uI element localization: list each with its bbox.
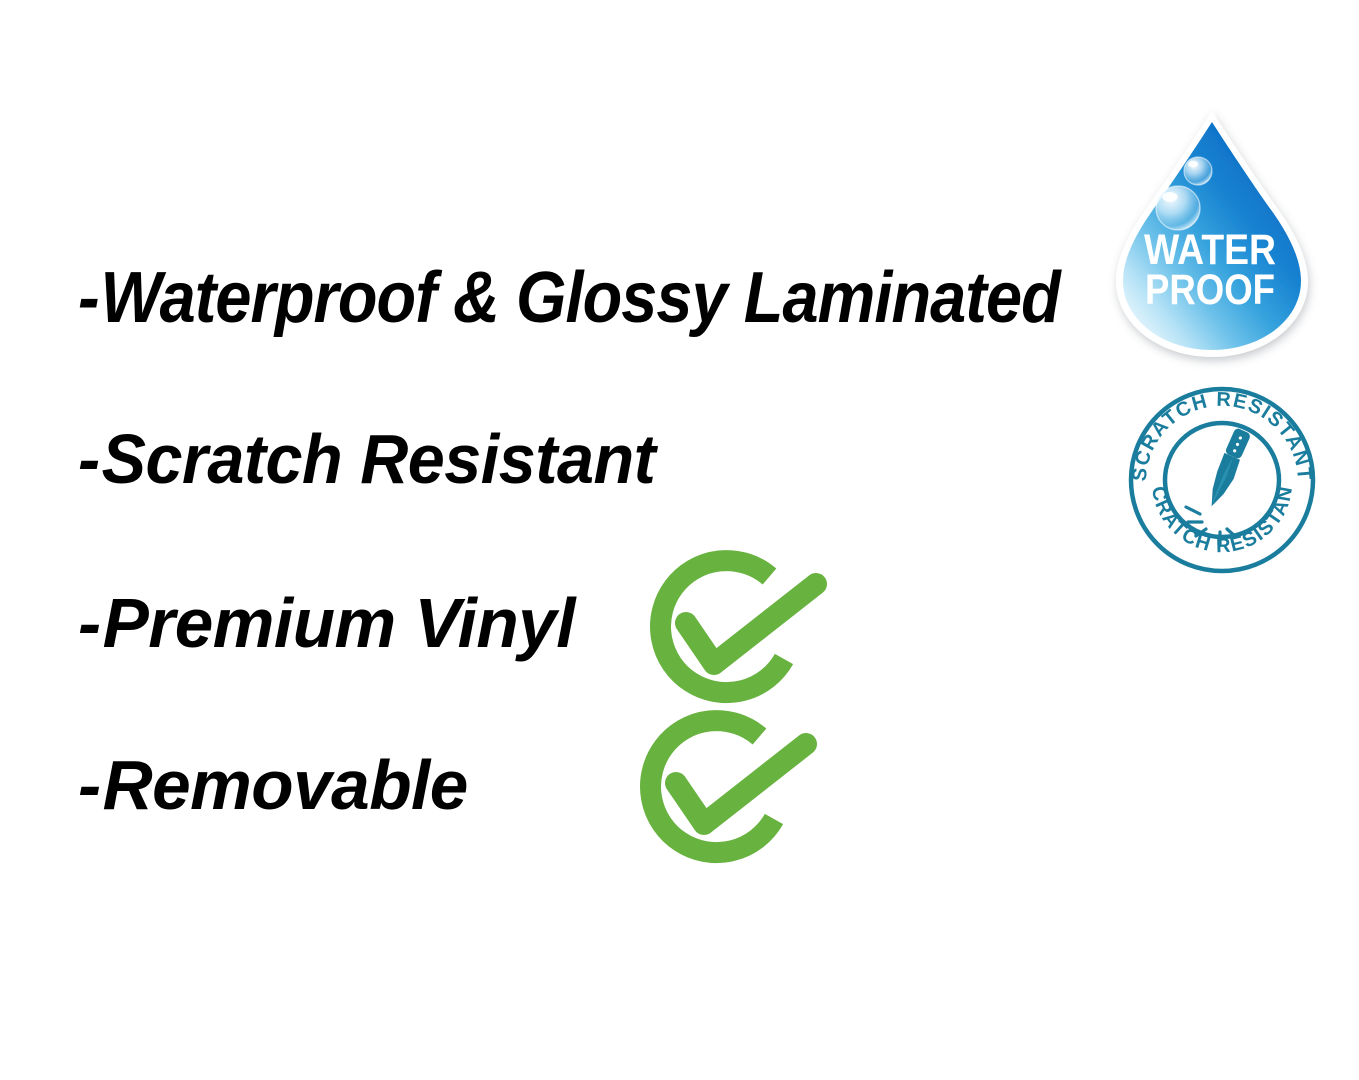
- green-check-1: [636, 552, 848, 720]
- feature-bullet-dash: -: [78, 262, 99, 334]
- feature-label: Premium Vinyl: [103, 584, 575, 662]
- waterproof-label: WATER PROOF: [1144, 226, 1276, 314]
- feature-label: Removable: [103, 746, 468, 824]
- check-tick: [686, 584, 816, 664]
- water-drop-icon: WATER PROOF: [1098, 105, 1326, 363]
- waterproof-badge: WATER PROOF: [1098, 105, 1326, 363]
- scratch-resistant-seal-icon: SCRATCH RESISTANT SCRATCH RESISTANT: [1128, 386, 1316, 574]
- green-check-circle-icon: [626, 712, 838, 880]
- knife-icon: [1202, 427, 1253, 510]
- green-check-circle-icon: [636, 552, 848, 720]
- scratch-resistant-badge: SCRATCH RESISTANT SCRATCH RESISTANT: [1128, 386, 1316, 574]
- feature-bullet-dash: -: [78, 588, 101, 658]
- feature-item-waterproof-glossy-laminated: -Waterproof & Glossy Laminated: [78, 262, 1060, 334]
- feature-label: Waterproof & Glossy Laminated: [100, 258, 1059, 338]
- product-feature-graphic: -Waterproof & Glossy Laminated -Scratch …: [0, 0, 1359, 1080]
- check-tick: [676, 744, 806, 824]
- waterproof-label-line2: PROOF: [1145, 266, 1275, 314]
- feature-label: Scratch Resistant: [102, 420, 656, 498]
- feature-bullet-dash: -: [78, 424, 100, 494]
- feature-bullet-dash: -: [78, 750, 101, 820]
- feature-item-premium-vinyl: -Premium Vinyl: [78, 588, 575, 658]
- feature-item-removable: -Removable: [78, 750, 468, 820]
- feature-item-scratch-resistant: -Scratch Resistant: [78, 424, 655, 494]
- green-check-2: [626, 712, 838, 880]
